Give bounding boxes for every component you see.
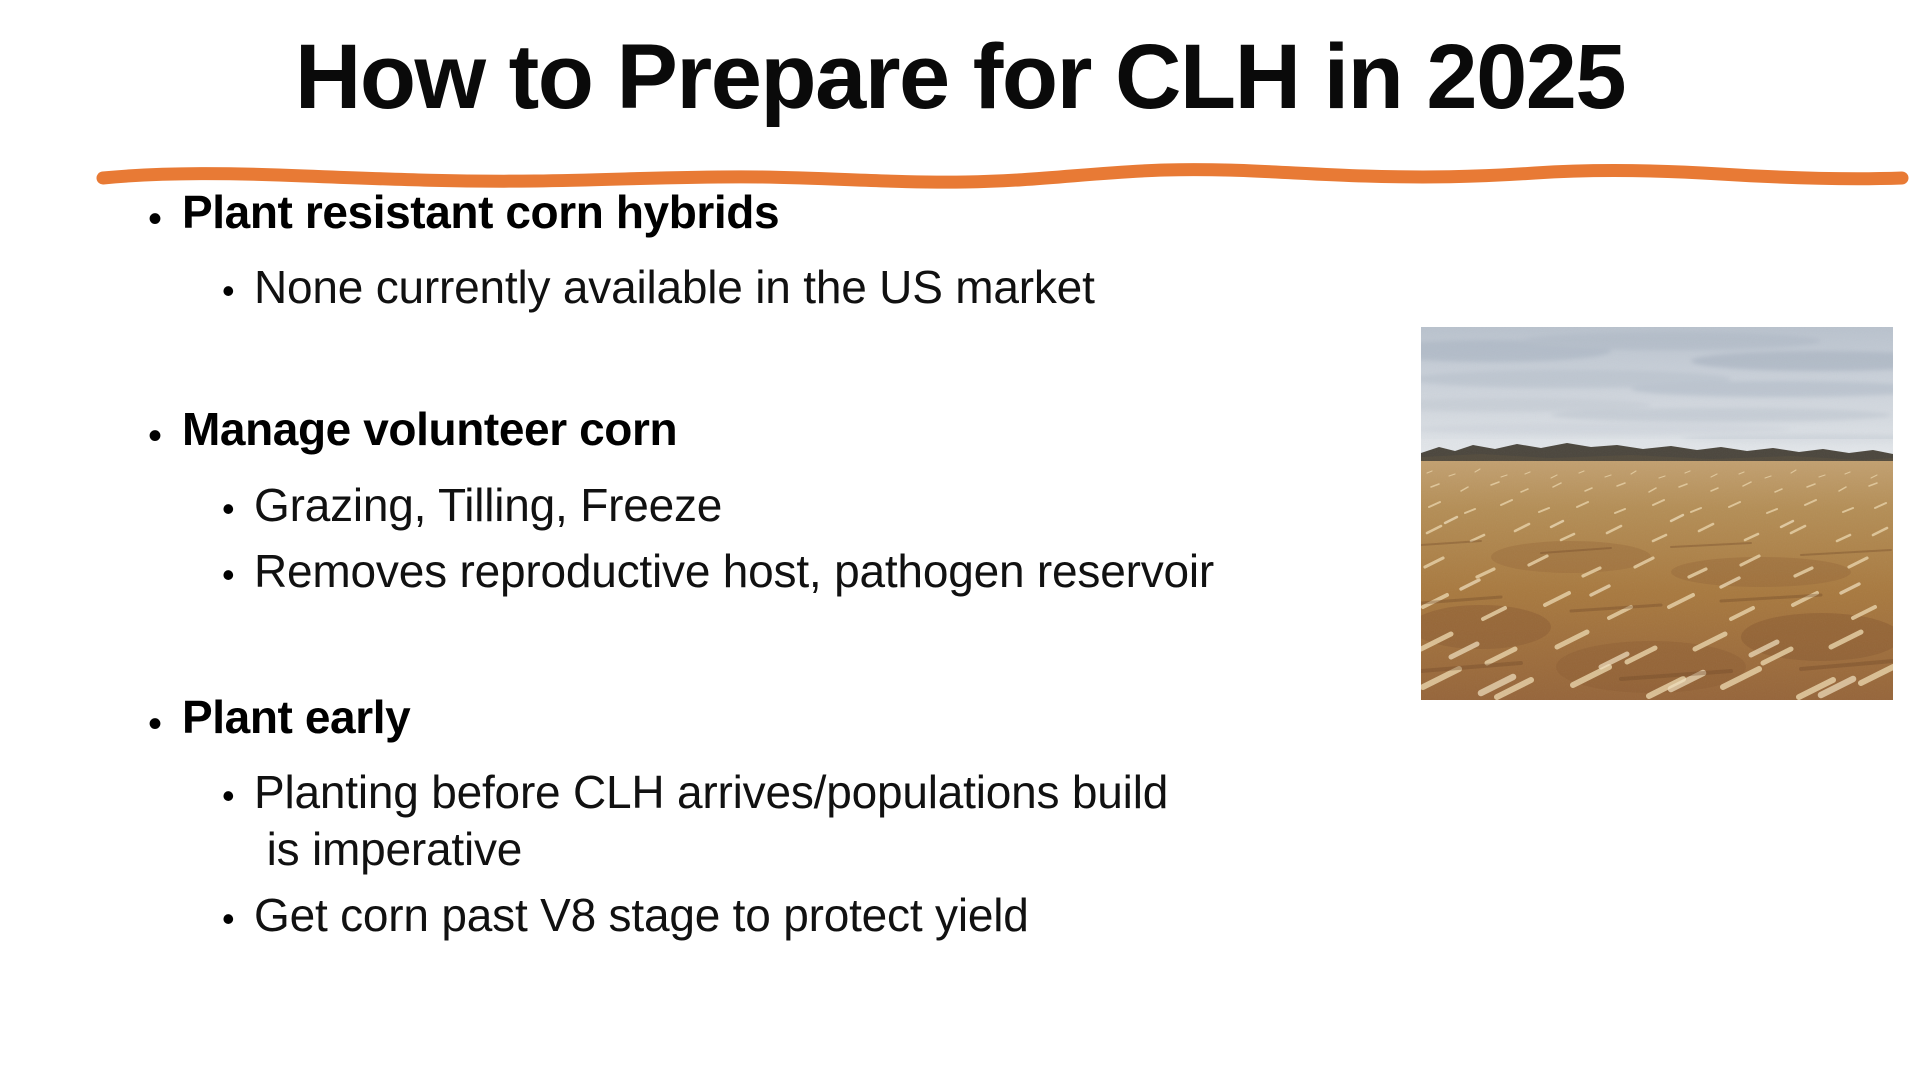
bullet-group-1: • Plant resistant corn hybrids • None cu… (0, 186, 1430, 315)
bullet-marker-icon: • (222, 557, 254, 593)
sub-text: Grazing, Tilling, Freeze (254, 477, 1430, 533)
list-item-sub: • Get corn past V8 stage to protect yiel… (0, 887, 1430, 943)
sub-text: Get corn past V8 stage to protect yield (254, 887, 1430, 943)
page-title: How to Prepare for CLH in 2025 (0, 28, 1920, 127)
heading-text: Plant early (182, 691, 1430, 744)
slide-root: How to Prepare for CLH in 2025 • Plant r… (0, 0, 1920, 1080)
bullet-marker-icon: • (148, 199, 182, 239)
corn-stubble-field-photo (1421, 327, 1893, 700)
sub-text: None currently available in the US marke… (254, 259, 1430, 315)
list-item-sub: • None currently available in the US mar… (0, 259, 1430, 315)
list-item-sub: • Removes reproductive host, pathogen re… (0, 543, 1430, 599)
list-item-sub: • Planting before CLH arrives/population… (0, 764, 1430, 876)
group-spacer (0, 599, 1430, 691)
bullet-marker-icon: • (148, 704, 182, 744)
bullet-marker-icon: • (222, 901, 254, 937)
list-item-heading: • Plant resistant corn hybrids (0, 186, 1430, 239)
list-item-heading: • Plant early (0, 691, 1430, 744)
bullet-content: • Plant resistant corn hybrids • None cu… (0, 186, 1430, 943)
list-item-heading: • Manage volunteer corn (0, 403, 1430, 456)
bullet-marker-icon: • (222, 778, 254, 814)
bullet-marker-icon: • (222, 491, 254, 527)
list-item-sub: • Grazing, Tilling, Freeze (0, 477, 1430, 533)
group-spacer (0, 315, 1430, 403)
bullet-group-3: • Plant early • Planting before CLH arri… (0, 691, 1430, 943)
sub-text: Removes reproductive host, pathogen rese… (254, 543, 1430, 599)
sub-text: Planting before CLH arrives/populations … (254, 764, 1430, 876)
heading-text: Manage volunteer corn (182, 403, 1430, 456)
heading-text: Plant resistant corn hybrids (182, 186, 1430, 239)
bullet-marker-icon: • (222, 273, 254, 309)
bullet-group-2: • Manage volunteer corn • Grazing, Tilli… (0, 403, 1430, 599)
bullet-marker-icon: • (148, 416, 182, 456)
